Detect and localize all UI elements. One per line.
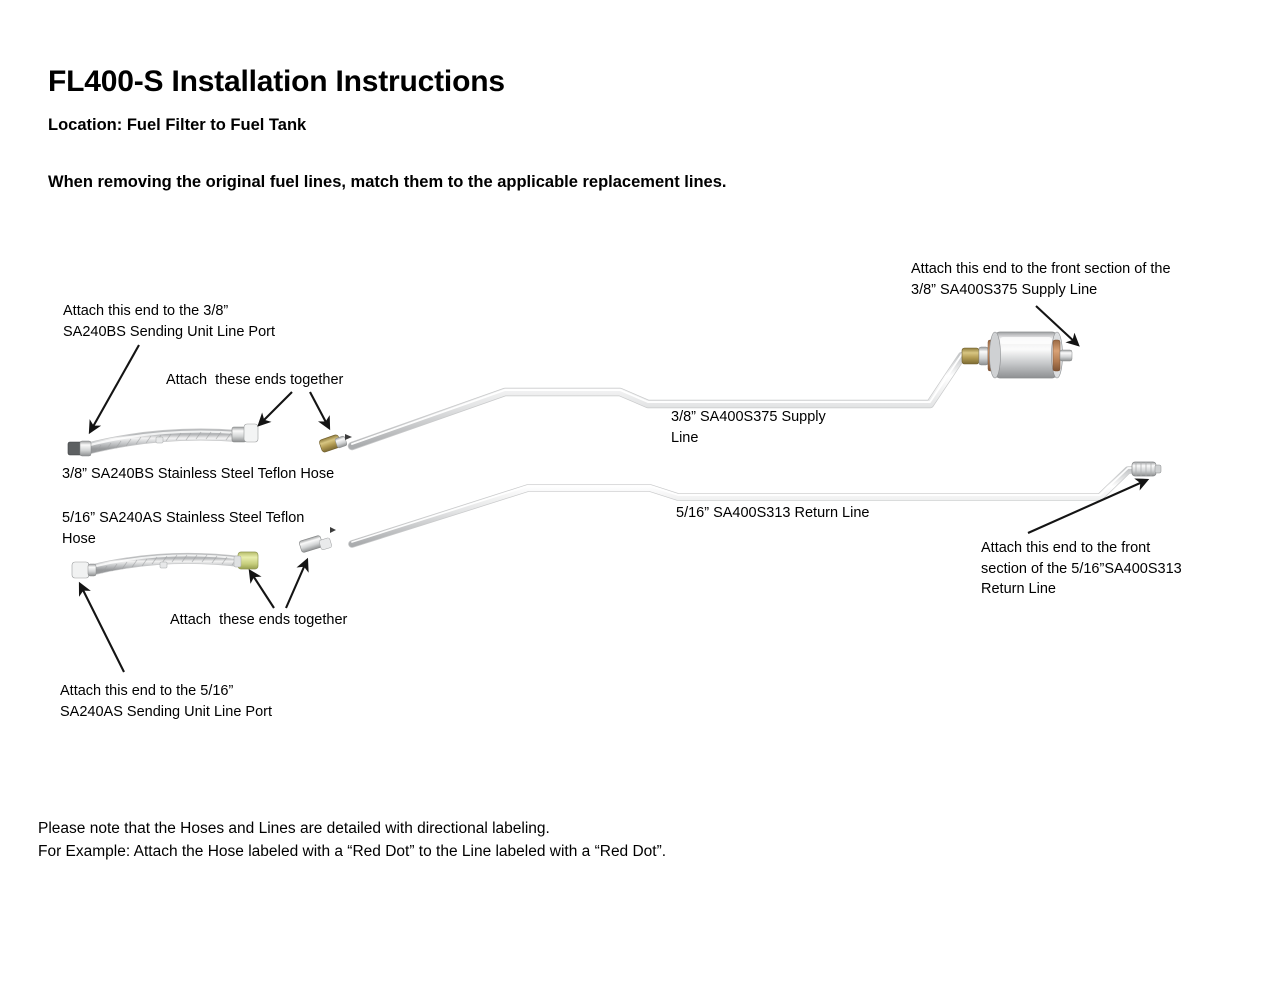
- part-hose-sa240bs: [68, 424, 258, 456]
- fitting-bs-hose-right: [232, 424, 258, 442]
- fitting-as-hose-left: [72, 562, 96, 578]
- fitting-as-hose-right: [234, 552, 258, 569]
- part-fuel-filter: [962, 332, 1072, 378]
- filter-inlet-brass-nut: [962, 348, 979, 364]
- part-line-sa400s375-supply: [319, 354, 1010, 453]
- fitting-return-left-silver: [299, 535, 332, 553]
- arrow-sending-unit-bs-port: [90, 345, 139, 432]
- arrow-attach-ends-bottom-right: [286, 560, 307, 608]
- fitting-supply-left-brass: [319, 434, 348, 453]
- fuel-line-diagram: [0, 0, 1280, 989]
- arrow-sending-unit-as-port: [80, 584, 124, 672]
- arrow-attach-ends-bottom-left: [250, 571, 274, 608]
- part-hose-sa240as: [72, 552, 258, 578]
- flow-direction-marker-supply: [345, 434, 352, 440]
- arrow-return-front-section: [1028, 480, 1147, 533]
- part-line-sa400s313-return: [299, 462, 1161, 553]
- filter-collar-right: [1053, 340, 1060, 371]
- fitting-return-right-silver: [1132, 462, 1161, 476]
- installation-instruction-page: FL400-S Installation Instructions Locati…: [0, 0, 1280, 989]
- arrow-attach-ends-top-right: [310, 392, 329, 428]
- fitting-bs-hose-left: [68, 441, 91, 456]
- arrow-attach-ends-top-left: [259, 392, 292, 425]
- flow-direction-marker-return: [330, 527, 336, 533]
